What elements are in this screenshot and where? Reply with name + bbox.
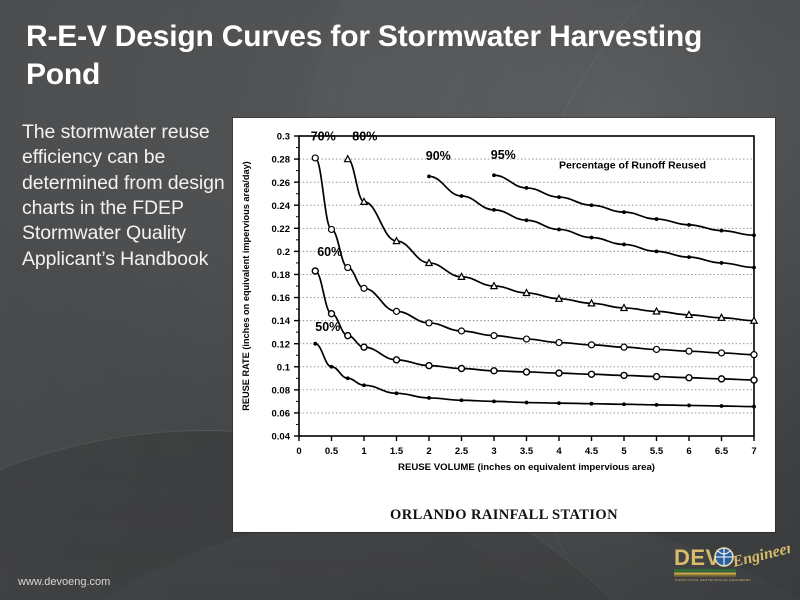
logo-tagline: CONSULTING GEOTECHNICAL ENGINEERS xyxy=(675,578,751,582)
series-label-90pct: 90% xyxy=(426,149,451,163)
x-tick-label: 3.5 xyxy=(520,446,534,457)
data-point-50pct xyxy=(395,391,399,395)
data-point-95pct xyxy=(557,195,561,199)
y-tick-label: 0.2 xyxy=(277,247,290,258)
data-point-80pct xyxy=(345,156,351,162)
series-label-50pct: 50% xyxy=(315,320,340,334)
data-point-90pct xyxy=(460,194,464,198)
series-label-70pct: 70% xyxy=(311,130,336,144)
data-point-60pct xyxy=(426,363,432,369)
series-line-60pct xyxy=(315,271,754,380)
data-point-60pct xyxy=(589,371,595,377)
data-point-70pct xyxy=(524,336,530,342)
data-point-60pct xyxy=(394,357,400,363)
x-tick-label: 6.5 xyxy=(715,446,729,457)
data-point-80pct xyxy=(621,305,627,311)
y-tick-label: 0.22 xyxy=(272,224,291,235)
data-point-50pct xyxy=(655,403,659,407)
data-point-70pct xyxy=(329,226,335,232)
chart-annotation: Percentage of Runoff Reused xyxy=(559,159,706,171)
data-point-80pct xyxy=(686,311,692,317)
data-point-95pct xyxy=(655,217,659,221)
x-tick-label: 4.5 xyxy=(585,446,599,457)
data-point-95pct xyxy=(720,229,724,233)
y-tick-label: 0.26 xyxy=(272,178,291,189)
y-tick-label: 0.1 xyxy=(277,362,291,373)
data-point-70pct xyxy=(556,340,562,346)
data-point-70pct xyxy=(312,155,318,161)
data-point-50pct xyxy=(460,398,464,402)
y-tick-label: 0.04 xyxy=(272,432,291,443)
data-point-80pct xyxy=(718,314,724,320)
series-line-80pct xyxy=(348,159,754,321)
data-point-60pct xyxy=(524,369,530,375)
data-point-90pct xyxy=(525,218,529,222)
data-point-95pct xyxy=(687,223,691,227)
x-tick-label: 2.5 xyxy=(455,446,469,457)
data-point-50pct xyxy=(752,405,756,409)
data-point-50pct xyxy=(720,404,724,408)
data-point-60pct xyxy=(491,368,497,374)
series-label-95pct: 95% xyxy=(491,148,516,162)
logo-script-engineering: Engineering xyxy=(730,541,790,571)
data-point-80pct xyxy=(653,308,659,314)
data-point-80pct xyxy=(588,300,594,306)
y-tick-label: 0.18 xyxy=(272,270,291,281)
design-curves-chart: 0.040.060.080.10.120.140.160.180.20.220.… xyxy=(233,118,775,498)
data-point-60pct xyxy=(621,372,627,378)
data-point-70pct xyxy=(491,333,497,339)
x-tick-label: 4 xyxy=(556,446,562,457)
data-point-70pct xyxy=(751,352,757,358)
y-tick-label: 0.06 xyxy=(272,409,291,420)
data-point-80pct xyxy=(491,283,497,289)
data-point-95pct xyxy=(752,233,756,237)
devo-engineering-logo: DEV CONSULTING GEOTECHNICAL ENGINEERS En… xyxy=(672,541,790,585)
data-point-70pct xyxy=(589,342,595,348)
plot-frame xyxy=(299,136,754,436)
data-point-90pct xyxy=(720,261,724,265)
data-point-70pct xyxy=(345,265,351,271)
data-point-70pct xyxy=(394,308,400,314)
data-point-50pct xyxy=(687,404,691,408)
y-tick-label: 0.24 xyxy=(272,201,291,212)
x-tick-label: 6 xyxy=(686,446,691,457)
x-tick-label: 1.5 xyxy=(390,446,404,457)
logo-bars xyxy=(674,569,736,577)
svg-text:DEV: DEV xyxy=(674,545,721,570)
data-point-60pct xyxy=(751,377,757,383)
data-point-50pct xyxy=(492,399,496,403)
data-point-95pct xyxy=(590,203,594,207)
data-point-70pct xyxy=(686,348,692,354)
data-point-60pct xyxy=(329,311,335,317)
data-point-70pct xyxy=(719,350,725,356)
x-axis-label: REUSE VOLUME (inches on equivalent imper… xyxy=(398,462,655,473)
data-point-50pct xyxy=(330,365,334,369)
data-point-60pct xyxy=(361,344,367,350)
data-point-50pct xyxy=(313,342,317,346)
data-point-50pct xyxy=(362,383,366,387)
data-point-50pct xyxy=(622,402,626,406)
y-tick-label: 0.3 xyxy=(277,132,290,143)
series-line-90pct xyxy=(429,176,754,267)
slide-title: R-E-V Design Curves for Stormwater Harve… xyxy=(26,18,726,93)
y-tick-label: 0.12 xyxy=(272,339,291,350)
data-point-80pct xyxy=(751,317,757,323)
data-point-60pct xyxy=(556,370,562,376)
data-point-95pct xyxy=(622,210,626,214)
data-point-80pct xyxy=(523,290,529,296)
x-tick-label: 0.5 xyxy=(325,446,339,457)
data-point-95pct xyxy=(525,186,529,190)
data-point-90pct xyxy=(590,236,594,240)
data-point-60pct xyxy=(719,376,725,382)
data-point-95pct xyxy=(492,173,496,177)
chart-caption: ORLANDO RAINFALL STATION xyxy=(233,507,775,524)
data-point-90pct xyxy=(752,266,756,270)
data-point-50pct xyxy=(525,401,529,405)
data-point-80pct xyxy=(426,260,432,266)
data-point-60pct xyxy=(345,333,351,339)
data-point-90pct xyxy=(687,255,691,259)
y-axis-label: REUSE RATE (inches on equivalent impervi… xyxy=(241,161,251,411)
data-point-80pct xyxy=(393,238,399,244)
data-point-50pct xyxy=(557,401,561,405)
data-point-50pct xyxy=(346,376,350,380)
data-point-90pct xyxy=(427,174,431,178)
y-tick-label: 0.16 xyxy=(272,293,291,304)
x-tick-label: 0 xyxy=(296,446,301,457)
x-tick-label: 5.5 xyxy=(650,446,664,457)
data-point-80pct xyxy=(556,295,562,301)
y-tick-label: 0.28 xyxy=(272,155,291,166)
data-point-70pct xyxy=(621,344,627,350)
svg-text:Engineering: Engineering xyxy=(730,541,790,571)
x-tick-label: 7 xyxy=(751,446,756,457)
x-tick-label: 1 xyxy=(361,446,367,457)
logo-wordmark: DEV xyxy=(674,545,733,570)
data-point-50pct xyxy=(427,396,431,400)
x-tick-label: 3 xyxy=(491,446,496,457)
data-point-60pct xyxy=(312,268,318,274)
x-tick-label: 2 xyxy=(426,446,431,457)
data-point-70pct xyxy=(654,346,660,352)
y-tick-label: 0.14 xyxy=(272,316,291,327)
data-point-90pct xyxy=(557,228,561,232)
chart-card: 0.040.060.080.10.120.140.160.180.20.220.… xyxy=(233,118,775,532)
series-label-80pct: 80% xyxy=(352,130,377,144)
data-point-60pct xyxy=(459,366,465,372)
slide-body-text: The stormwater reuse efficiency can be d… xyxy=(22,120,227,272)
footer-url[interactable]: www.devoeng.com xyxy=(18,576,110,588)
data-point-70pct xyxy=(459,328,465,334)
x-tick-label: 5 xyxy=(621,446,627,457)
data-point-70pct xyxy=(361,285,367,291)
data-point-60pct xyxy=(686,375,692,381)
data-point-70pct xyxy=(426,320,432,326)
data-point-90pct xyxy=(622,243,626,247)
data-point-90pct xyxy=(492,208,496,212)
data-point-90pct xyxy=(655,249,659,253)
data-point-50pct xyxy=(590,402,594,406)
data-point-60pct xyxy=(654,374,660,380)
y-tick-label: 0.08 xyxy=(272,385,291,396)
